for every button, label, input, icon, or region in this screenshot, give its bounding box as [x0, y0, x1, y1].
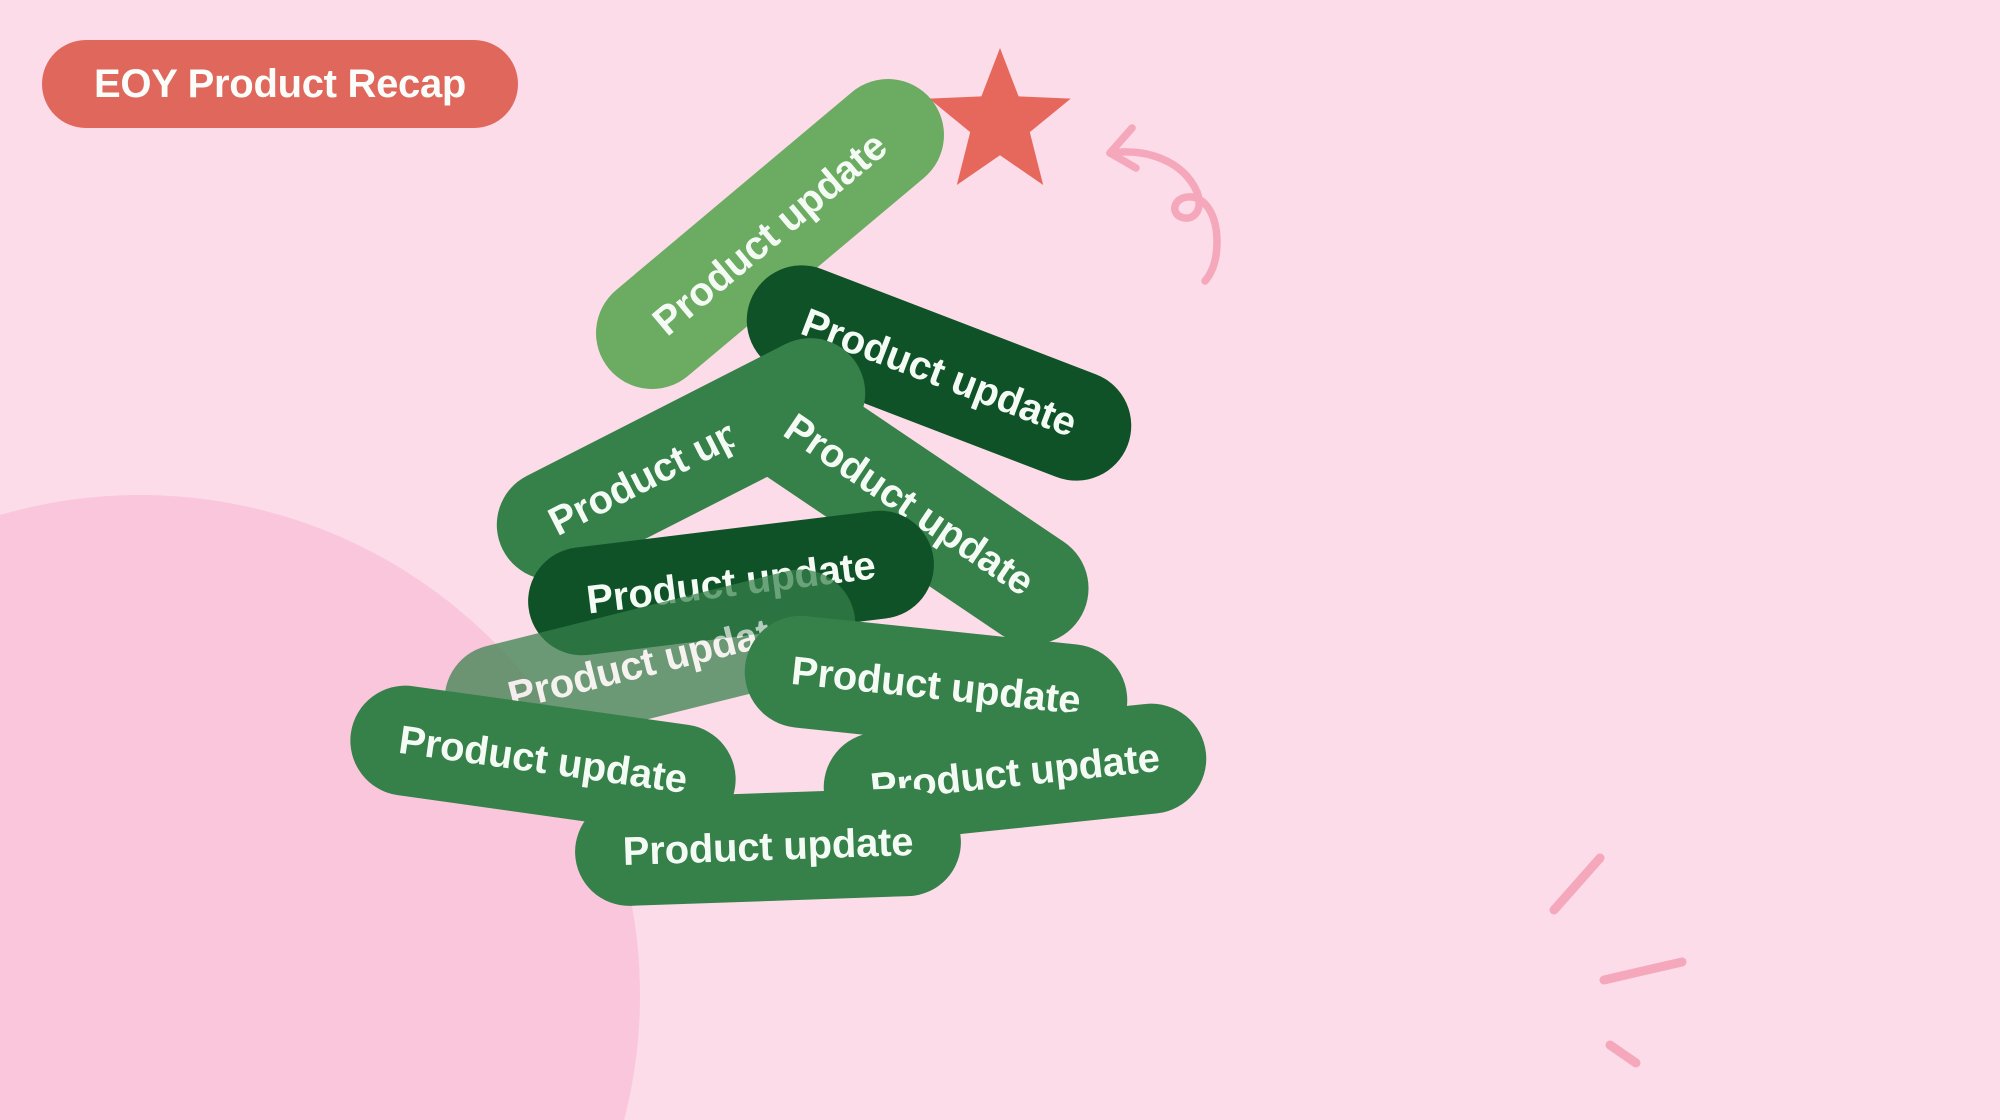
poster-canvas: Product updateProduct updateProduct upda… [0, 0, 2000, 1120]
christmas-tree-pills: Product updateProduct updateProduct upda… [0, 0, 2000, 1120]
page-title-badge: EOY Product Recap [42, 40, 518, 128]
pill-label: Product update [789, 651, 1082, 721]
product-update-pill[interactable]: Product update [573, 786, 963, 907]
page-title: EOY Product Recap [94, 64, 466, 104]
pill-label: Product update [622, 822, 914, 872]
pill-label: Product update [396, 720, 689, 800]
